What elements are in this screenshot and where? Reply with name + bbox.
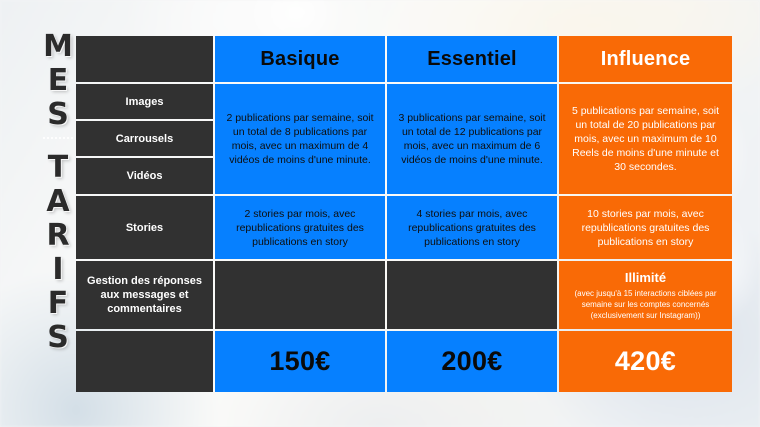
vertical-title-group-mes: M E S xyxy=(43,30,73,132)
cell-publications-influence-text: 5 publications par semaine, soit un tota… xyxy=(567,104,724,174)
price-influence-value: 420€ xyxy=(615,346,676,377)
column-header-influence-label: Influence xyxy=(601,48,691,71)
row-label-videos: Vidéos xyxy=(76,158,213,194)
cell-stories-essentiel-text: 4 stories par mois, avec republications … xyxy=(395,207,549,249)
cell-publications-essentiel-text: 3 publications par semaine, soit un tota… xyxy=(395,111,549,167)
column-header-essentiel[interactable]: Essentiel xyxy=(387,36,557,82)
vertical-letter-s1: S xyxy=(47,98,69,132)
vertical-letter-f: F xyxy=(48,287,69,321)
row-label-videos-text: Vidéos xyxy=(127,169,163,183)
cell-stories-basique-text: 2 stories par mois, avec republications … xyxy=(223,207,377,249)
column-header-basique[interactable]: Basique xyxy=(215,36,385,82)
column-header-influence[interactable]: Influence xyxy=(559,36,732,82)
vertical-letter-a: A xyxy=(46,185,69,219)
cell-gestion-essentiel xyxy=(387,261,557,329)
cell-stories-influence-text: 10 stories par mois, avec republications… xyxy=(567,207,724,249)
row-label-stories-text: Stories xyxy=(126,221,163,235)
price-basique-value: 150€ xyxy=(269,346,330,377)
cell-stories-influence: 10 stories par mois, avec republications… xyxy=(559,196,732,259)
row-label-gestion-text: Gestion des réponses aux messages et com… xyxy=(84,274,205,316)
cell-stories-essentiel: 4 stories par mois, avec republications … xyxy=(387,196,557,259)
row-label-images-text: Images xyxy=(126,95,164,109)
column-header-essentiel-label: Essentiel xyxy=(427,48,517,71)
price-essentiel[interactable]: 200€ xyxy=(387,331,557,392)
cell-publications-basique-text: 2 publications par semaine, soit un tota… xyxy=(223,111,377,167)
price-influence[interactable]: 420€ xyxy=(559,331,732,392)
vertical-letter-s2: S xyxy=(47,321,69,355)
row-label-price xyxy=(76,331,213,392)
row-label-images: Images xyxy=(76,84,213,119)
vertical-letter-m: M xyxy=(43,30,73,64)
pricing-table: Basique Essentiel Influence Images Carro… xyxy=(76,36,726,380)
column-header-basique-label: Basique xyxy=(260,48,339,71)
vertical-title-mes-tarifs: M E S T A R I F S xyxy=(40,30,76,385)
vertical-letter-t: T xyxy=(48,151,68,185)
price-basique[interactable]: 150€ xyxy=(215,331,385,392)
slide-stage: M E S T A R I F S Basique Essentiel Infl… xyxy=(0,0,760,427)
price-essentiel-value: 200€ xyxy=(441,346,502,377)
row-label-stories: Stories xyxy=(76,196,213,259)
cell-publications-influence: 5 publications par semaine, soit un tota… xyxy=(559,84,732,194)
vertical-title-divider xyxy=(43,137,73,139)
table-corner-cell xyxy=(76,36,213,82)
cell-publications-essentiel: 3 publications par semaine, soit un tota… xyxy=(387,84,557,194)
cell-gestion-influence-title: Illimité xyxy=(625,269,666,286)
vertical-title-group-tarifs: T A R I F S xyxy=(46,151,69,355)
row-label-carrousels: Carrousels xyxy=(76,121,213,156)
cell-gestion-basique xyxy=(215,261,385,329)
vertical-letter-e: E xyxy=(48,64,69,98)
cell-gestion-influence-note: (avec jusqu'à 15 interactions ciblées pa… xyxy=(567,288,724,321)
cell-stories-basique: 2 stories par mois, avec republications … xyxy=(215,196,385,259)
row-label-gestion: Gestion des réponses aux messages et com… xyxy=(76,261,213,329)
vertical-letter-i: I xyxy=(52,253,63,287)
cell-gestion-influence: Illimité (avec jusqu'à 15 interactions c… xyxy=(559,261,732,329)
row-label-carrousels-text: Carrousels xyxy=(116,132,173,146)
vertical-letter-r: R xyxy=(46,219,69,253)
cell-publications-basique: 2 publications par semaine, soit un tota… xyxy=(215,84,385,194)
